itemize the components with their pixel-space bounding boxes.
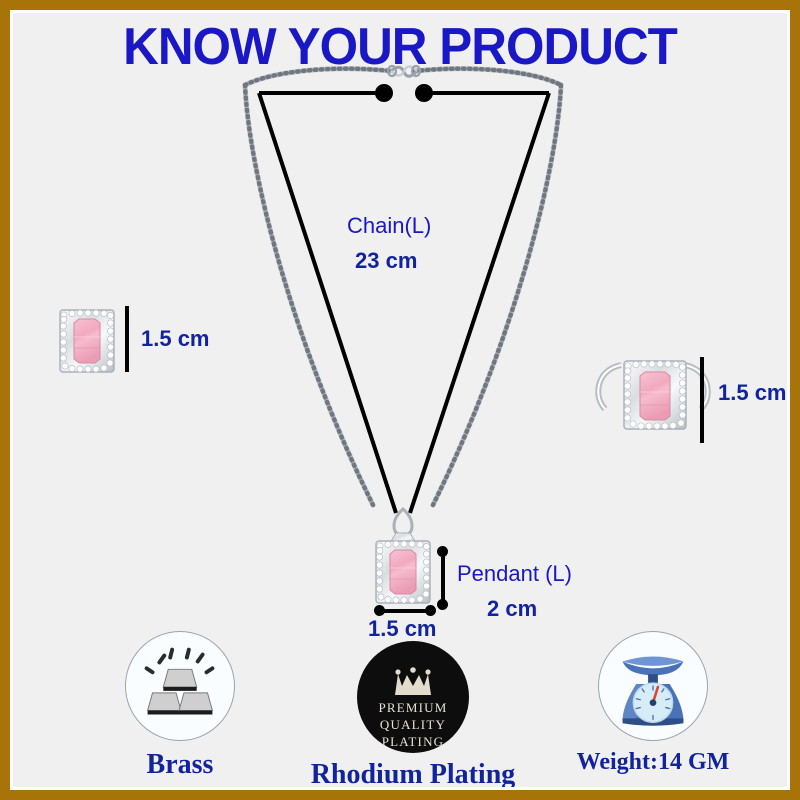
- earring-illustration: [60, 310, 114, 372]
- badge-weight-label: Weight:14 GM: [548, 749, 758, 776]
- chain-length-label: Chain(L): [347, 213, 431, 239]
- badge-brass-label: Brass: [75, 749, 285, 781]
- seal-line-1: PREMIUM: [357, 699, 469, 716]
- badge-rhodium-label: Rhodium Plating: [308, 759, 518, 790]
- seal-line-3: PLATING: [357, 733, 469, 750]
- badge-weight: Weight:14 GM: [548, 631, 758, 776]
- badge-brass: Brass: [75, 631, 285, 781]
- ring-measure-line: [696, 357, 707, 443]
- chain-strand: [245, 69, 561, 505]
- seal-line-2: QUALITY: [357, 716, 469, 733]
- weighing-scale-icon: [598, 631, 708, 741]
- pendant-illustration: [376, 509, 430, 603]
- ring-illustration: [598, 361, 708, 429]
- chain-length-value: 23 cm: [355, 248, 417, 274]
- infographic-frame: KNOW YOUR PRODUCT: [0, 0, 800, 800]
- earring-size-value: 1.5 cm: [141, 326, 210, 352]
- pendant-length-label: Pendant (L): [457, 561, 572, 587]
- ring-size-value: 1.5 cm: [718, 380, 787, 406]
- pendant-length-measure-line: [437, 551, 448, 605]
- gold-bars-icon: [125, 631, 235, 741]
- crown-seal-icon: PREMIUM QUALITY PLATING: [357, 641, 469, 753]
- chain-clasp: [388, 66, 420, 76]
- earring-measure-line: [121, 306, 132, 372]
- infographic-canvas: KNOW YOUR PRODUCT: [10, 10, 790, 790]
- chain-length-measure-line: [259, 84, 549, 513]
- pendant-length-value: 2 cm: [487, 596, 537, 622]
- pendant-width-value: 1.5 cm: [368, 616, 437, 642]
- badge-rhodium-plating: PREMIUM QUALITY PLATING Rhodium Plating: [308, 641, 518, 790]
- pendant-width-measure-line: [379, 605, 431, 616]
